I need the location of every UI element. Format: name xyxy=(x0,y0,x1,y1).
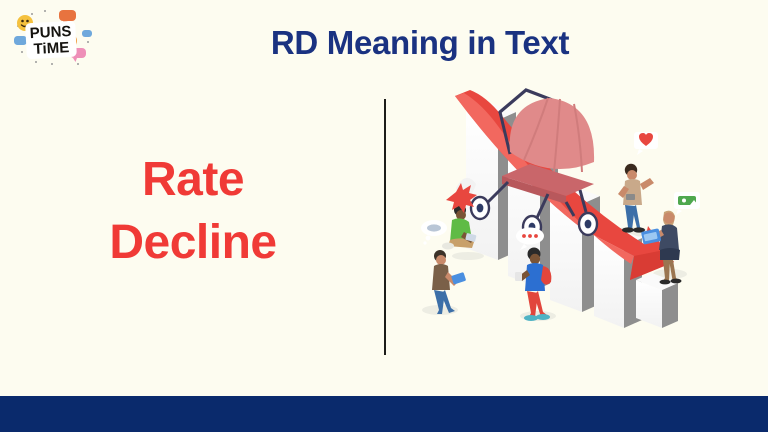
phrase-line-2: Decline xyxy=(18,211,368,274)
pram-wheel-icon xyxy=(579,213,597,235)
meaning-phrase: Rate Decline xyxy=(18,148,368,275)
rate-decline-illustration xyxy=(398,84,708,334)
chat-bubble-icon xyxy=(421,220,447,245)
phrase-line-1: Rate xyxy=(142,153,244,206)
puns-time-logo[interactable]: PUNS TiME xyxy=(12,8,98,70)
page-title: RD Meaning in Text xyxy=(170,24,670,62)
pram-wheel-icon xyxy=(471,197,489,219)
vertical-divider xyxy=(384,99,386,355)
logo-line-2: TiME xyxy=(33,39,69,58)
slide-canvas: PUNS TiME RD Meaning in Text Rate Declin… xyxy=(0,0,768,432)
person-man-gesturing xyxy=(618,164,654,233)
green-card-icon xyxy=(674,192,700,215)
heart-card-icon xyxy=(634,132,658,155)
footer-bar xyxy=(0,396,768,432)
logo-wordmark: PUNS TiME xyxy=(25,21,77,60)
